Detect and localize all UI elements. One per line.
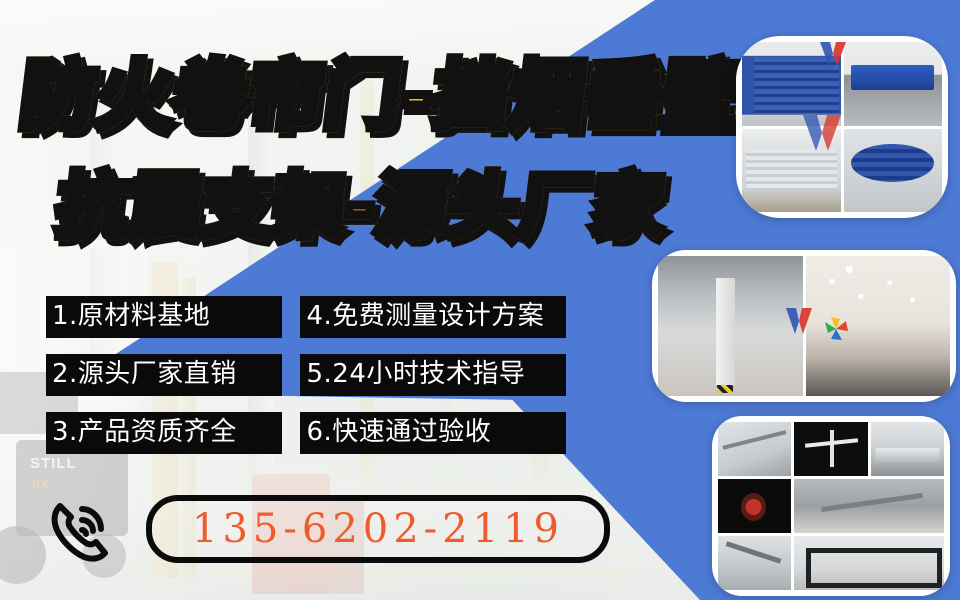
photo-ceiling-fan-duct: [718, 479, 791, 533]
headline-primary-text: 防火卷帘门-挡烟垂壁: [16, 53, 743, 139]
phone-number-text: 135-6202-2119: [192, 509, 564, 549]
feature-item-3: 3.产品资质齐全: [46, 412, 282, 454]
headline-secondary: 抗震支架-源头厂家: [52, 150, 671, 251]
photo-duct-support-rail: [718, 536, 791, 590]
phone-ringing-icon: [44, 492, 120, 566]
collage-smoke-barrier-sites: 挡烟垂壁安装现场: [652, 250, 956, 402]
feature-list: 1.原材料基地 4.免费测量设计方案 2.源头厂家直销 5.24小时技术指导 3…: [46, 296, 566, 470]
photo-seismic-brace-detail: [794, 422, 867, 476]
pinwheel-decoration-icon: [822, 316, 850, 342]
feature-item-6: 6.快速通过验收: [300, 412, 566, 454]
headline-primary: 防火卷帘门-挡烟垂壁: [15, 36, 745, 143]
feature-item-2: 2.源头厂家直销: [46, 354, 282, 396]
photo-underground-parking-garage: 挡烟垂壁安装现场: [658, 256, 803, 396]
feature-item-4: 4.免费测量设计方案: [300, 296, 566, 338]
photo-pipe-clamp-assembly: [871, 422, 944, 476]
headline-secondary-text: 抗震支架-源头厂家: [52, 165, 669, 247]
contact-row: 135-6202-2119: [44, 492, 610, 566]
feature-item-5: 5.24小时技术指导: [300, 354, 566, 396]
feature-row: 2.源头厂家直销 5.24小时技术指导: [46, 354, 566, 396]
feature-row: 1.原材料基地 4.免费测量设计方案: [46, 296, 566, 338]
banner-root: STILL RX 防火卷帘门-挡烟垂壁 防火卷帘门-挡烟垂壁 抗震支架-源头厂家…: [0, 0, 960, 600]
photo-steel-frame-room: [794, 536, 944, 590]
collage-seismic-brackets: [712, 416, 950, 596]
phone-number-badge[interactable]: 135-6202-2119: [146, 495, 610, 563]
photo-blue-rolling-shutter-door: [742, 42, 841, 126]
photo-large-ceiling-fan: [794, 479, 944, 533]
photo-shutter-production-machine: [844, 42, 943, 126]
photo-blue-shutter-roll-coil: [844, 129, 943, 213]
photo-pipe-bracket-ceiling: [718, 422, 791, 476]
collage-shutter-doors: [736, 36, 948, 218]
feature-item-1: 1.原材料基地: [46, 296, 282, 338]
photo-grey-rolling-shutter-interior: [742, 129, 841, 213]
feature-row: 3.产品资质齐全 6.快速通过验收: [46, 412, 566, 454]
